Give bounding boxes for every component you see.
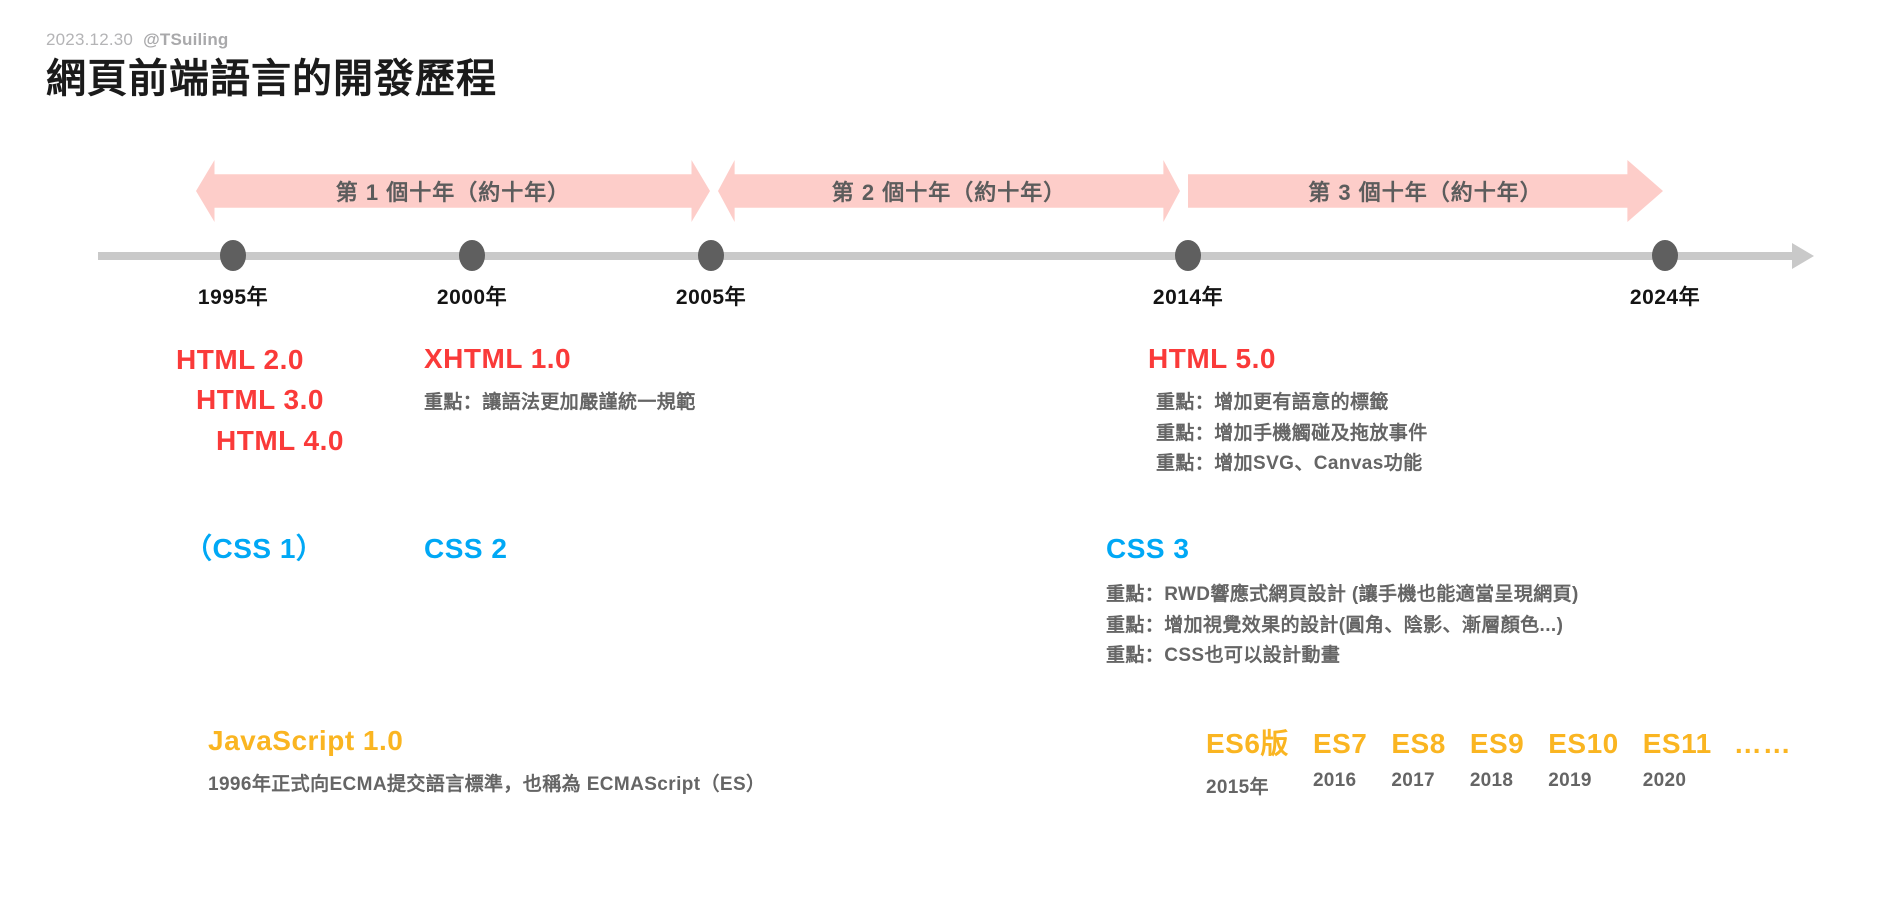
css3-block-2014: CSS 3 重點：RWD響應式網頁設計 (讓手機也能適當呈現網頁) 重點：增加視…: [1106, 530, 1579, 672]
es-name-es8: ES8: [1391, 728, 1445, 760]
es-name-es7: ES7: [1313, 728, 1367, 760]
decade-arrow-1: 第 1 個十年（約十年）: [196, 160, 710, 222]
timeline-arrow-icon: [1792, 243, 1814, 269]
es-item-es11: ES11 2020: [1643, 728, 1712, 792]
ecmascript-block-2014: ES6版 2015年 ES7 2016 ES8 2017 ES9 2018 ES…: [1206, 722, 1792, 799]
css3-note-3: 重點：CSS也可以設計動畫: [1106, 641, 1579, 672]
css3-note-1: 重點：RWD響應式網頁設計 (讓手機也能適當呈現網頁): [1106, 580, 1579, 611]
html-versions-1995: HTML 2.0 HTML 3.0 HTML 4.0: [176, 340, 344, 461]
timeline-dot-2005: [698, 240, 724, 271]
xhtml-title: XHTML 1.0: [424, 340, 696, 378]
es-item-es8: ES8 2017: [1391, 728, 1445, 792]
css1-title: （CSS 1）: [184, 530, 324, 568]
es-year-es10: 2019: [1548, 770, 1619, 792]
timeline-axis: [98, 252, 1798, 260]
css3-title: CSS 3: [1106, 530, 1579, 568]
byline-date: 2023.12.30: [46, 30, 133, 49]
decade-label-3: 第 3 個十年（約十年）: [1308, 175, 1542, 207]
timeline-year-2014: 2014年: [1153, 281, 1223, 311]
html5-title: HTML 5.0: [1148, 340, 1428, 378]
byline: 2023.12.30@TSuiling: [46, 30, 497, 50]
javascript-note-1: 1996年正式向ECMA提交語言標準，也稱為 ECMAScript（ES）: [208, 770, 765, 801]
css3-note-2: 重點：增加視覺效果的設計(圓角、陰影、漸層顏色...): [1106, 611, 1579, 642]
decade-band: 第 1 個十年（約十年） 第 2 個十年（約十年） 第 3 個十年（約十年）: [0, 160, 1900, 222]
css2-title: CSS 2: [424, 530, 507, 568]
decade-label-1: 第 1 個十年（約十年）: [336, 175, 570, 207]
decade-label-2: 第 2 個十年（約十年）: [832, 175, 1066, 207]
es-item-es10: ES10 2019: [1548, 728, 1619, 792]
timeline-dot-2014: [1175, 240, 1201, 271]
es-name-es10: ES10: [1548, 728, 1619, 760]
es-item-es6: ES6版 2015年: [1206, 722, 1289, 799]
es-year-es9: 2018: [1470, 770, 1524, 792]
html5-note-3: 重點：增加SVG、Canvas功能: [1148, 449, 1428, 480]
timeline-dot-1995: [220, 240, 246, 271]
html-version-3: HTML 3.0: [176, 380, 344, 420]
xhtml-note-1: 重點：讓語法更加嚴謹統一規範: [424, 388, 696, 419]
es-year-es8: 2017: [1391, 770, 1445, 792]
xhtml-block-2000: XHTML 1.0 重點：讓語法更加嚴謹統一規範: [424, 340, 696, 419]
byline-handle: @TSuiling: [143, 30, 228, 49]
timeline-year-2024: 2024年: [1630, 281, 1700, 311]
javascript-title: JavaScript 1.0: [208, 722, 765, 760]
css1-block-1995: （CSS 1）: [184, 530, 324, 568]
decade-arrow-3: 第 3 個十年（約十年）: [1188, 160, 1663, 222]
page-title: 網頁前端語言的開發歷程: [46, 56, 497, 102]
timeline-year-2005: 2005年: [676, 281, 746, 311]
html5-block-2014: HTML 5.0 重點：增加更有語意的標籤 重點：增加手機觸碰及拖放事件 重點：…: [1148, 340, 1428, 480]
html-version-4: HTML 4.0: [176, 421, 344, 461]
es-ellipsis: ……: [1734, 728, 1792, 760]
es-year-es11: 2020: [1643, 770, 1712, 792]
es-item-es7: ES7 2016: [1313, 728, 1367, 792]
html5-note-1: 重點：增加更有語意的標籤: [1148, 388, 1428, 419]
page-header: 2023.12.30@TSuiling 網頁前端語言的開發歷程: [46, 30, 497, 102]
timeline-year-2000: 2000年: [437, 281, 507, 311]
es-year-es6: 2015年: [1206, 772, 1289, 799]
es-name-es9: ES9: [1470, 728, 1524, 760]
timeline-dot-2000: [459, 240, 485, 271]
ecmascript-version-row: ES6版 2015年 ES7 2016 ES8 2017 ES9 2018 ES…: [1206, 722, 1792, 799]
timeline-year-1995: 1995年: [198, 281, 268, 311]
html-version-2: HTML 2.0: [176, 340, 344, 380]
javascript-block-1995: JavaScript 1.0 1996年正式向ECMA提交語言標準，也稱為 EC…: [208, 722, 765, 801]
es-year-es7: 2016: [1313, 770, 1367, 792]
css2-block-2000: CSS 2: [424, 530, 507, 568]
es-item-es9: ES9 2018: [1470, 728, 1524, 792]
es-name-es6: ES6版: [1206, 722, 1289, 762]
html5-note-2: 重點：增加手機觸碰及拖放事件: [1148, 419, 1428, 450]
es-name-es11: ES11: [1643, 728, 1712, 760]
decade-arrow-2: 第 2 個十年（約十年）: [718, 160, 1180, 222]
timeline-dot-2024: [1652, 240, 1678, 271]
